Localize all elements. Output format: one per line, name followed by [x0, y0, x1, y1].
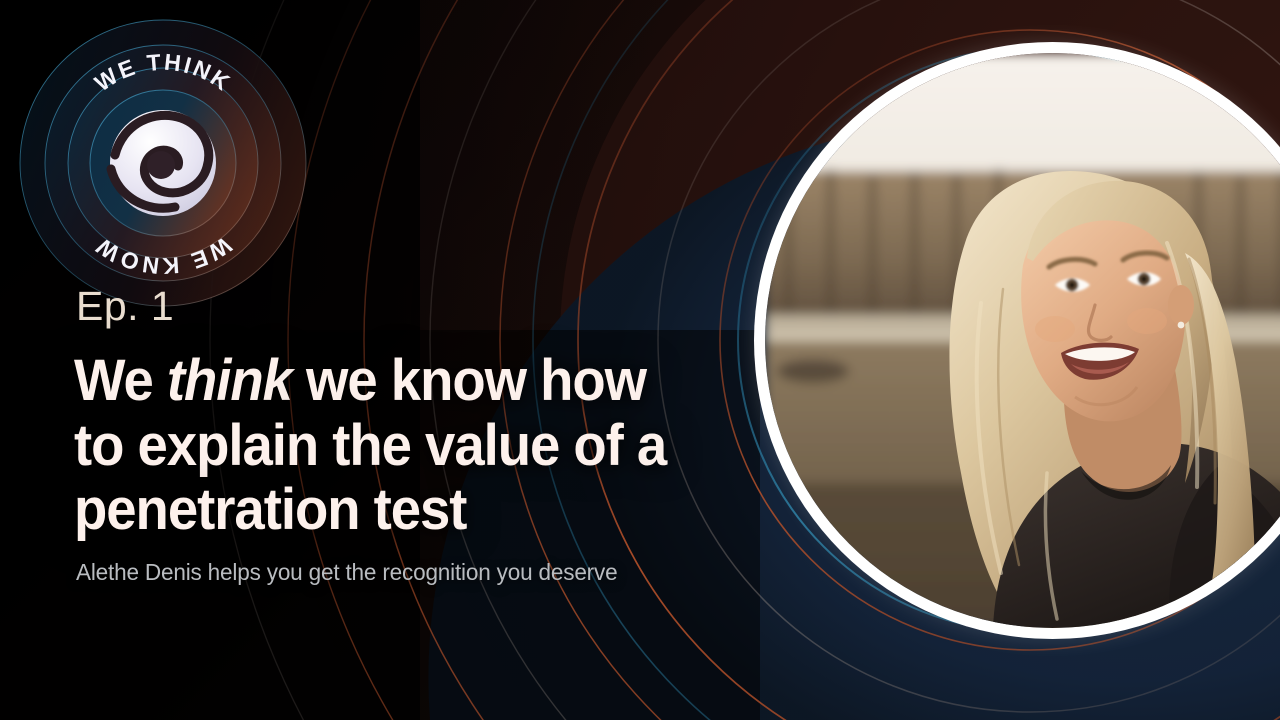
podcast-logo: WE THINK WE KNOW — [18, 18, 308, 308]
eye-spiral-icon — [110, 110, 216, 216]
title-line-3: penetration test — [74, 477, 466, 542]
title-emphasis: think — [167, 348, 292, 413]
page-title: We think we know howto explain the value… — [74, 349, 732, 543]
title-part-1: We — [74, 348, 167, 413]
title-line-2: to explain the value of a — [74, 413, 666, 478]
title-block: Ep. 1 We think we know howto explain the… — [74, 286, 774, 586]
subtitle: Alethe Denis helps you get the recogniti… — [76, 559, 746, 586]
title-part-2: we know how — [292, 348, 646, 413]
episode-number: Ep. 1 — [76, 286, 774, 327]
episode-title-card: WE THINK WE KNOW — [0, 0, 1280, 720]
